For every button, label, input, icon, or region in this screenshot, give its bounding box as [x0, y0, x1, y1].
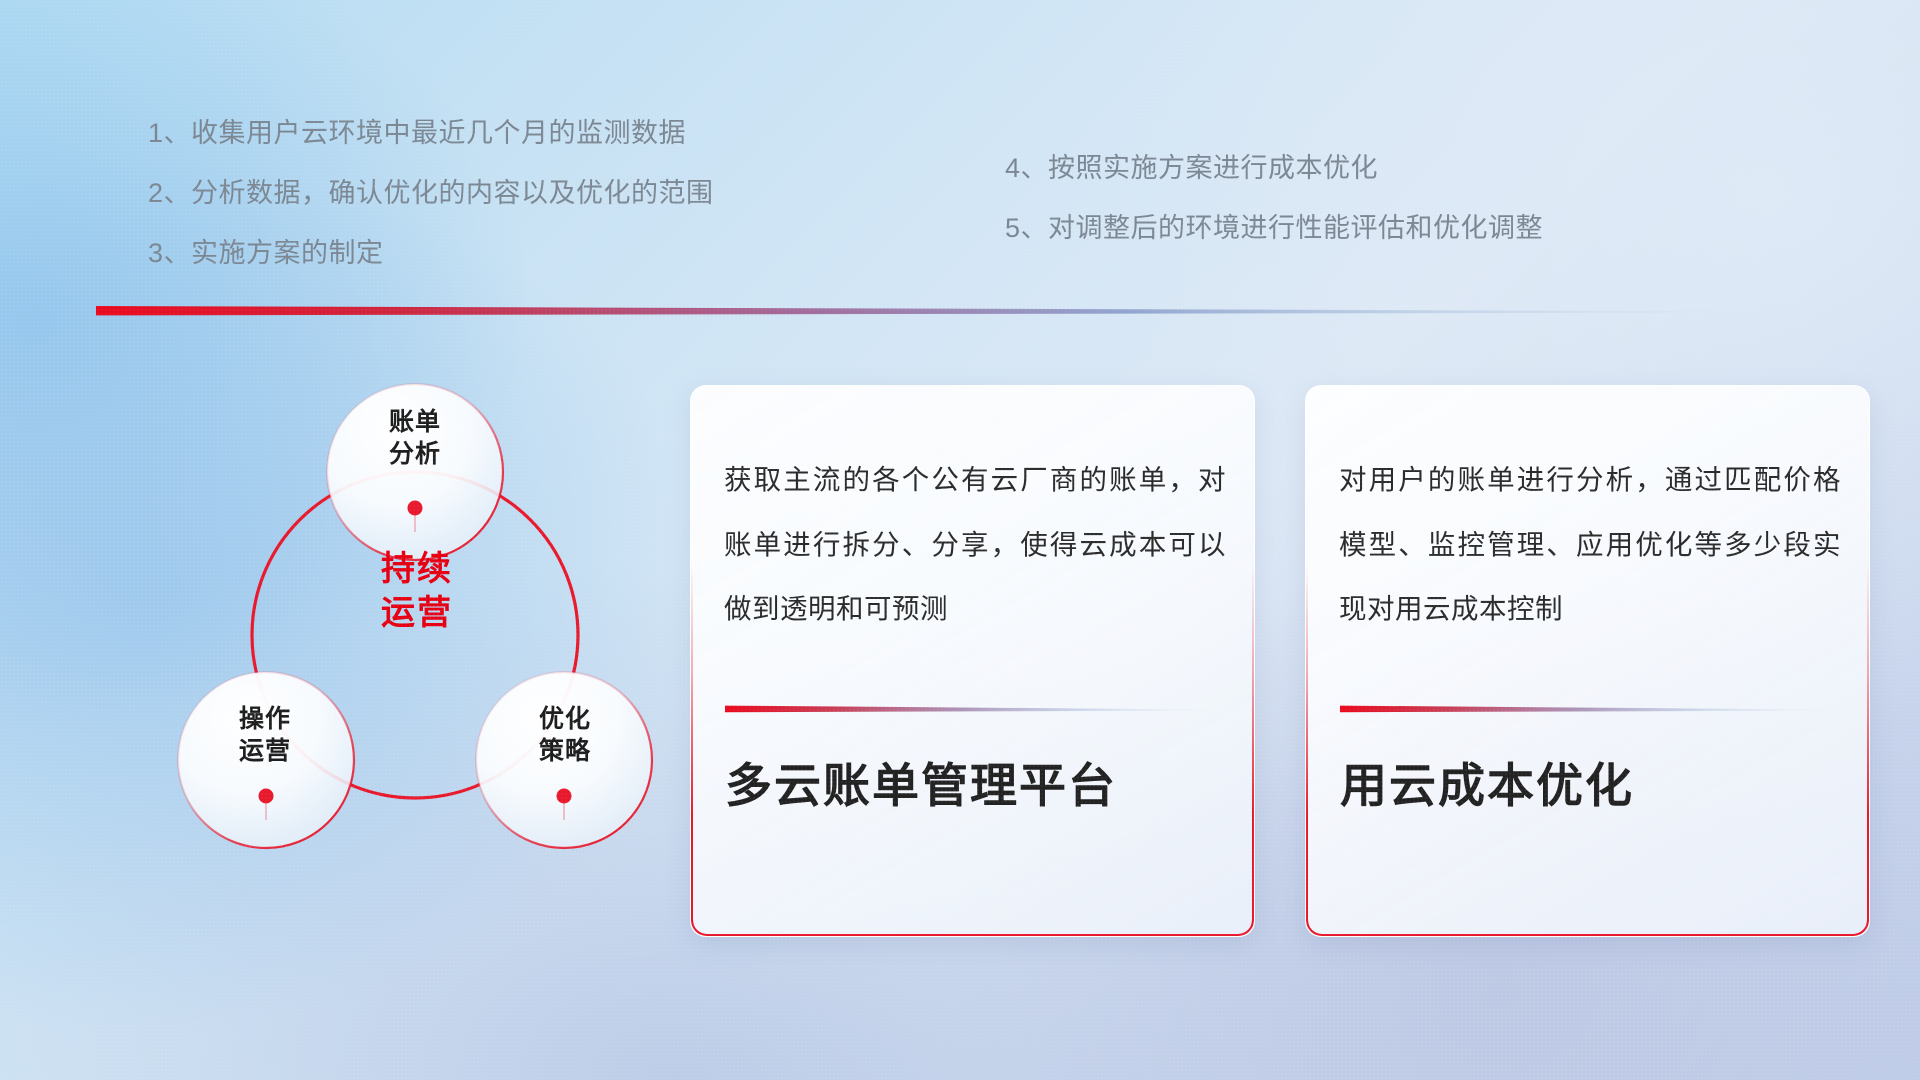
step-item-3: 3、实施方案的制定 — [148, 240, 714, 267]
ring-node-dot-left — [259, 789, 274, 804]
card-title: 多云账单管理平台 — [725, 758, 1228, 814]
bubble-label-operations: 操作 运营 — [180, 703, 350, 767]
card-title: 用云成本优化 — [1340, 758, 1843, 814]
bubble-label-bill-analysis: 账单 分析 — [330, 406, 500, 470]
card-body-text: 获取主流的各个公有云厂商的账单，对账单进行拆分、分享，使得云成本可以做到透明和可… — [724, 448, 1226, 642]
step-item-4: 4、按照实施方案进行成本优化 — [1005, 155, 1543, 182]
step-item-2: 2、分析数据，确认优化的内容以及优化的范围 — [148, 180, 714, 207]
steps-left-column: 1、收集用户云环境中最近几个月的监测数据 2、分析数据，确认优化的内容以及优化的… — [148, 120, 714, 300]
steps-right-column: 4、按照实施方案进行成本优化 5、对调整后的环境进行性能评估和优化调整 — [1005, 155, 1543, 275]
step-item-1: 1、收集用户云环境中最近几个月的监测数据 — [148, 120, 714, 147]
info-card-cloud-cost-optimization[interactable]: 对用户的账单进行分析，通过匹配价格模型、监控管理、应用优化等多少段实现对用云成本… — [1305, 385, 1870, 937]
info-card-multicloud-billing[interactable]: 获取主流的各个公有云厂商的账单，对账单进行拆分、分享，使得云成本可以做到透明和可… — [690, 385, 1255, 937]
section-divider — [96, 302, 1756, 318]
continuous-operation-diagram: 账单 分析 操作 运营 优化 策略 持续 运营 — [90, 350, 690, 960]
card-body-text: 对用户的账单进行分析，通过匹配价格模型、监控管理、应用优化等多少段实现对用云成本… — [1339, 448, 1841, 642]
ring-node-dot-right — [557, 789, 572, 804]
step-item-5: 5、对调整后的环境进行性能评估和优化调整 — [1005, 215, 1543, 242]
card-rule-divider — [725, 704, 1224, 714]
ring-node-dot-top — [408, 501, 423, 516]
bubble-label-optimization-policy: 优化 策略 — [480, 703, 650, 767]
slide-canvas: 1、收集用户云环境中最近几个月的监测数据 2、分析数据，确认优化的内容以及优化的… — [0, 0, 1920, 1080]
diagram-center-label: 持续 运营 — [302, 548, 532, 635]
card-rule-divider — [1340, 704, 1839, 714]
